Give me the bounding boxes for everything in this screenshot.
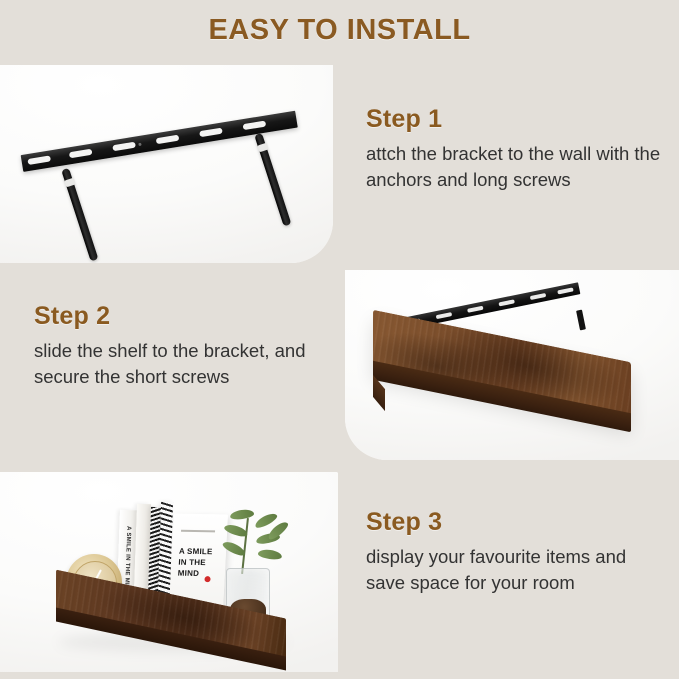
step-2-body: slide the shelf to the bracket, and secu…	[34, 338, 334, 390]
step-3-body: display your favourite items and save sp…	[366, 544, 666, 596]
plant-leaf	[223, 523, 249, 539]
book-title-line-2: IN THE	[178, 558, 206, 567]
page-title: EASY TO INSTALL	[0, 14, 679, 47]
book-cover-red-dot	[204, 576, 210, 582]
book-title-line-3: MIND	[178, 569, 200, 578]
styled-shelf-illustration: A SMILE IN THE MIND A SMILE IN THE MIND	[18, 482, 318, 667]
book-cover-rule	[181, 530, 215, 533]
step-3-image-panel: A SMILE IN THE MIND A SMILE IN THE MIND	[0, 472, 338, 672]
wall-bracket-illustration	[14, 117, 324, 252]
bracket-end-cap-right	[576, 310, 586, 331]
step-2-text: Step 2 slide the shelf to the bracket, a…	[34, 302, 334, 390]
step-1-text: Step 1 attch the bracket to the wall wit…	[366, 105, 666, 193]
step-1-heading: Step 1	[366, 105, 666, 134]
book-title-line-1: A SMILE	[179, 547, 213, 557]
step-3-heading: Step 3	[366, 508, 666, 537]
easy-to-install-infographic: EASY TO INSTALL Step 1 attch the bracket…	[0, 0, 679, 679]
plant-leaf	[257, 548, 282, 560]
step-3-text: Step 3 display your favourite items and …	[366, 508, 666, 596]
floating-shelf-illustration	[373, 308, 658, 438]
book-cover-title: A SMILE IN THE MIND	[178, 546, 213, 580]
step-2-image-panel	[345, 270, 679, 460]
plant-stem	[241, 518, 249, 574]
step-1-image-panel	[0, 65, 333, 263]
step-2-heading: Step 2	[34, 302, 334, 331]
plant-leaf	[229, 508, 254, 520]
step-1-body: attch the bracket to the wall with the a…	[366, 141, 666, 193]
